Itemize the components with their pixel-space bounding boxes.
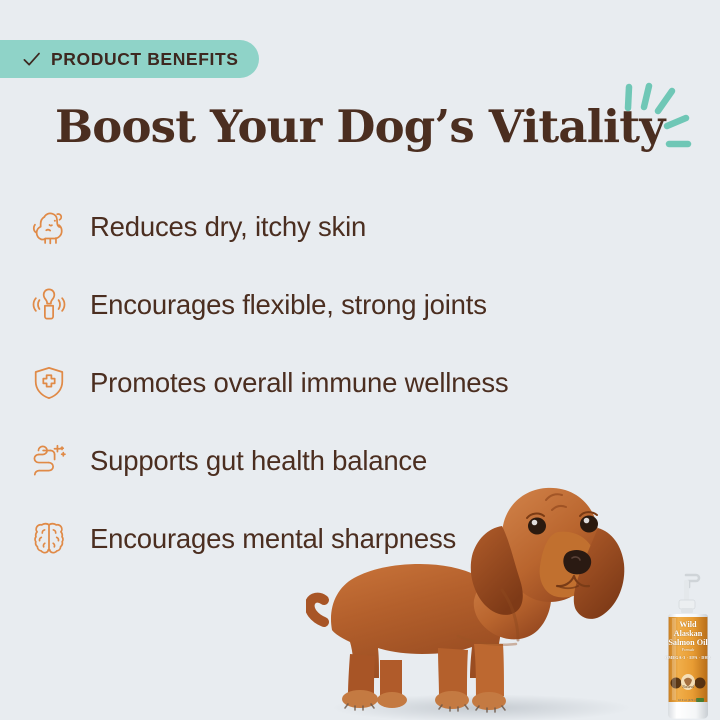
- sparkle-lines-icon: [620, 82, 700, 172]
- page-title: Boost Your Dog’s Vitality: [55, 100, 665, 153]
- benefit-label: Supports gut health balance: [90, 445, 427, 477]
- product-benefits-badge: PRODUCT BENEFITS: [0, 40, 259, 78]
- list-item: Promotes overall immune wellness: [24, 344, 664, 422]
- joint-bone-icon: [24, 280, 74, 330]
- salmon-oil-bottle: Wild Alaskan Salmon Oil Formula OMEGA-3 …: [660, 572, 716, 720]
- brain-icon: [24, 514, 74, 564]
- benefit-label: Promotes overall immune wellness: [90, 367, 508, 399]
- benefit-label: Reduces dry, itchy skin: [90, 211, 366, 243]
- badge-label: PRODUCT BENEFITS: [51, 49, 239, 70]
- list-item: Encourages flexible, strong joints: [24, 266, 664, 344]
- intestine-icon: [24, 436, 74, 486]
- bottle-label-line3: Salmon Oil: [660, 639, 716, 648]
- bottle-label-line5: OMEGA-3 · EPA · DHA: [660, 656, 716, 660]
- shield-cross-icon: [24, 358, 74, 408]
- benefit-label: Encourages flexible, strong joints: [90, 289, 487, 321]
- check-icon: [22, 50, 41, 69]
- product-benefits-infographic: PRODUCT BENEFITS Boost Your Dog’s Vitali…: [0, 0, 720, 720]
- dog-scratching-icon: [24, 202, 74, 252]
- bottle-label-line4: Formula: [660, 649, 716, 653]
- list-item: Encourages mental sharpness: [24, 500, 664, 578]
- benefit-label: Encourages mental sharpness: [90, 523, 456, 555]
- benefits-list: Reduces dry, itchy skin Encourages flexi…: [24, 188, 664, 578]
- list-item: Reduces dry, itchy skin: [24, 188, 664, 266]
- bottle-label-line6: Natural: [660, 685, 716, 689]
- bottle-label-line7: 16 fl oz (473 ml): [660, 699, 716, 702]
- list-item: Supports gut health balance: [24, 422, 664, 500]
